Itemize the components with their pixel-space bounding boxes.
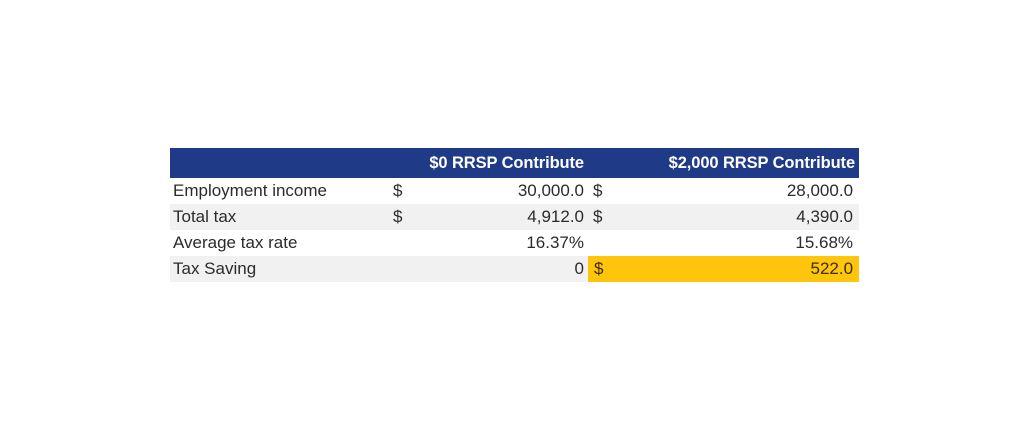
currency-symbol-tax-saving-col-a (388, 256, 416, 282)
row-label-tax-saving: Tax Saving (170, 256, 388, 282)
row-label-total-tax: Total tax (170, 204, 388, 230)
value-average-tax-rate-col-b: 15.68% (620, 230, 859, 256)
comparison-table-container: $0 RRSP Contribute $2,000 RRSP Contribut… (170, 148, 859, 282)
currency-symbol-average-tax-rate-col-b (588, 230, 620, 256)
currency-symbol-total-tax-col-a: $ (388, 204, 416, 230)
value-employment-income-col-b: 28,000.0 (620, 178, 859, 204)
value-employment-income-col-a: 30,000.0 (416, 178, 588, 204)
table-body: Employment income $ 30,000.0 $ 28,000.0 … (170, 178, 859, 282)
table-row: Total tax $ 4,912.0 $ 4,390.0 (170, 204, 859, 230)
currency-symbol-total-tax-col-b: $ (588, 204, 620, 230)
currency-symbol-employment-income-col-b: $ (588, 178, 620, 204)
value-total-tax-col-a: 4,912.0 (416, 204, 588, 230)
header-cell-blank (170, 148, 388, 178)
table-header: $0 RRSP Contribute $2,000 RRSP Contribut… (170, 148, 859, 178)
rrsp-comparison-table: $0 RRSP Contribute $2,000 RRSP Contribut… (170, 148, 859, 282)
currency-symbol-tax-saving-col-b: $ (588, 256, 620, 282)
value-tax-saving-col-a: 0 (416, 256, 588, 282)
page-root: $0 RRSP Contribute $2,000 RRSP Contribut… (0, 0, 1024, 431)
value-total-tax-col-b: 4,390.0 (620, 204, 859, 230)
table-row: Tax Saving 0 $ 522.0 (170, 256, 859, 282)
row-label-employment-income: Employment income (170, 178, 388, 204)
header-cell-zero-rrsp-contribute: $0 RRSP Contribute (388, 148, 588, 178)
currency-symbol-employment-income-col-a: $ (388, 178, 416, 204)
header-cell-two-thousand-rrsp-contribute: $2,000 RRSP Contribute (588, 148, 859, 178)
table-header-row: $0 RRSP Contribute $2,000 RRSP Contribut… (170, 148, 859, 178)
value-tax-saving-col-b-highlighted: 522.0 (620, 256, 859, 282)
currency-symbol-average-tax-rate-col-a (388, 230, 416, 256)
table-row: Employment income $ 30,000.0 $ 28,000.0 (170, 178, 859, 204)
row-label-average-tax-rate: Average tax rate (170, 230, 388, 256)
value-average-tax-rate-col-a: 16.37% (416, 230, 588, 256)
table-row: Average tax rate 16.37% 15.68% (170, 230, 859, 256)
